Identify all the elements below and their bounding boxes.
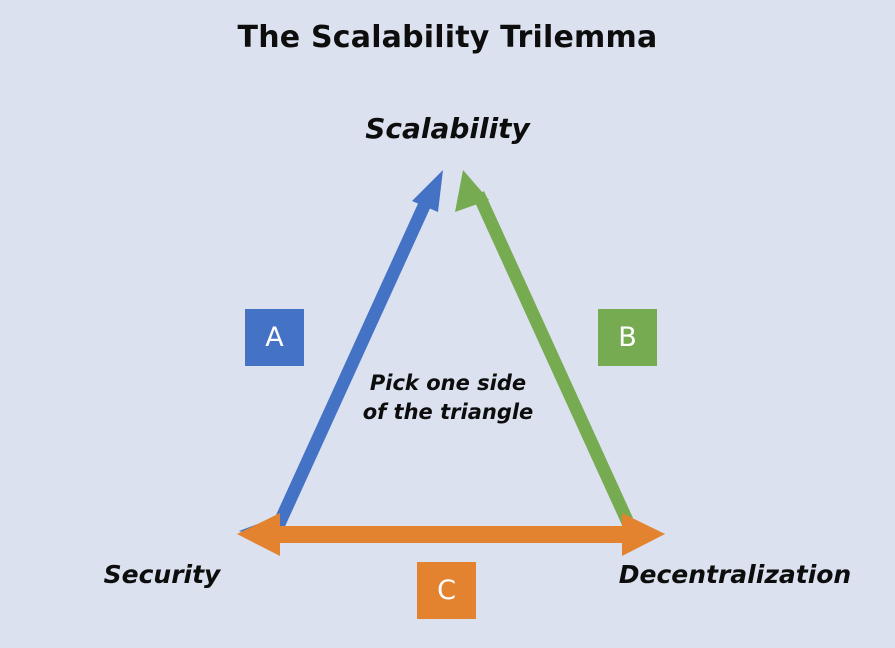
- center-caption-line-1: Pick one side: [298, 369, 598, 398]
- page-title: The Scalability Trilemma: [0, 20, 895, 55]
- center-caption-line-2: of the triangle: [298, 398, 598, 427]
- vertex-label-security: Security: [52, 560, 272, 589]
- side-marker-b: B: [598, 309, 657, 366]
- side-marker-c: C: [417, 562, 476, 619]
- vertex-label-decentralization: Decentralization: [590, 560, 880, 589]
- edge-c-arrow: [237, 513, 665, 556]
- side-marker-a: A: [245, 309, 304, 366]
- center-caption: Pick one side of the triangle: [298, 369, 598, 427]
- vertex-label-scalability: Scalability: [0, 112, 895, 145]
- trilemma-triangle-graphic: Scalability (blue) --> Decentralization …: [0, 0, 895, 648]
- diagram-canvas: Scalability (blue) --> Decentralization …: [0, 0, 895, 648]
